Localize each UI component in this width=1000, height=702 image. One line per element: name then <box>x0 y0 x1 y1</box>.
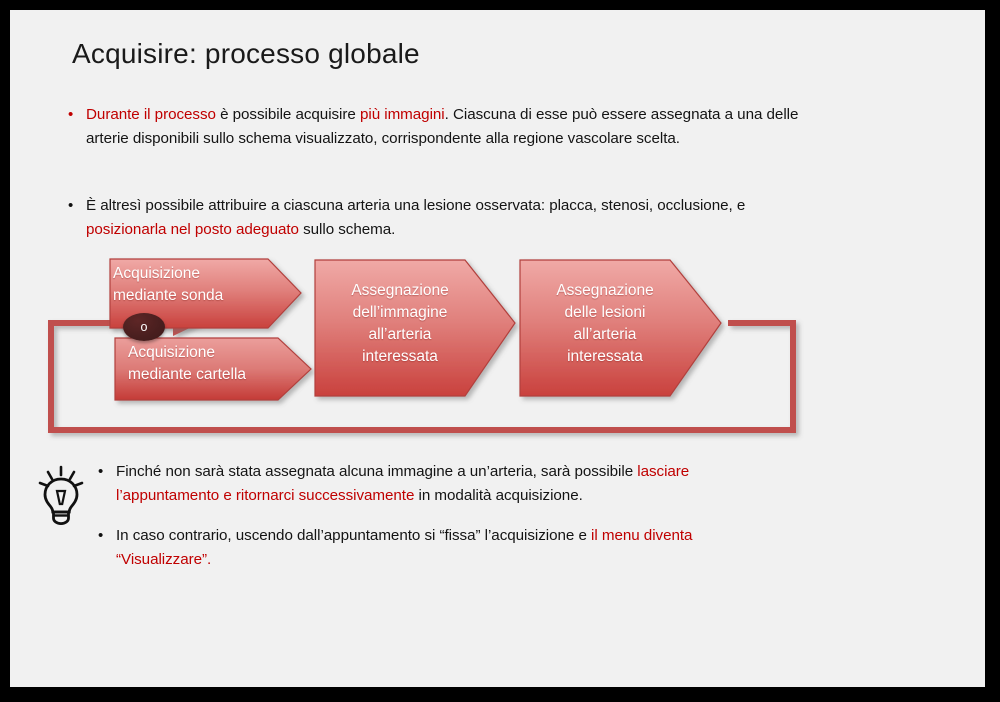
bullet-1-seg-1: è possibile acquisire <box>216 106 360 123</box>
chevron-label-acquisizione-sonda: Acquisizione mediante sonda <box>113 263 263 307</box>
bullet-item-2: • È altresì possibile attribuire a ciasc… <box>68 194 808 241</box>
bullet-1-seg-2: più immagini <box>360 106 445 123</box>
page-title: Acquisire: processo globale <box>72 38 872 70</box>
or-connector-badge: o <box>123 313 165 341</box>
bullet-marker-icon: • <box>98 460 116 483</box>
feedback-loop-arrow <box>51 310 793 430</box>
bullet-2-seg-2: sullo schema. <box>299 221 395 238</box>
chevron-line: mediante cartella <box>128 364 293 386</box>
chevron-line: Assegnazione <box>320 280 480 302</box>
chevron-line: Acquisizione <box>113 263 263 285</box>
chevron-line: dell’immagine <box>320 302 480 324</box>
bullet-marker-icon: • <box>98 524 116 547</box>
bullet-marker-icon: • <box>68 103 86 126</box>
chevron-line: delle lesioni <box>525 302 685 324</box>
bullet-text-2: È altresì possibile attribuire a ciascun… <box>86 194 808 241</box>
bullet-text-1: Durante il processo è possibile acquisir… <box>86 103 838 150</box>
chevron-line: Acquisizione <box>128 342 293 364</box>
bullet-text-4: In caso contrario, uscendo dall’appuntam… <box>116 524 778 571</box>
slide-canvas: Acquisire: processo globale • Durante il… <box>10 10 985 687</box>
chevron-acquisizione-sonda <box>110 259 301 328</box>
bullet-marker-icon: • <box>68 194 86 217</box>
chevron-assegnazione-immagine <box>315 260 515 396</box>
bullet-3-seg-0: Finché non sarà stata assegnata alcuna i… <box>116 463 637 480</box>
bullet-3-seg-2: in modalità acquisizione. <box>414 487 582 504</box>
bullet-1-seg-0: Durante il processo <box>86 106 216 123</box>
chevron-line: all’arteria <box>320 324 480 346</box>
chevron-label-acquisizione-cartella: Acquisizione mediante cartella <box>128 342 293 386</box>
bullet-2-seg-1: posizionarla nel posto adeguato <box>86 221 299 238</box>
chevron-line: Assegnazione <box>525 280 685 302</box>
chevron-acquisizione-cartella <box>115 338 311 400</box>
chevron-line: all’arteria <box>525 324 685 346</box>
chevron-line: interessata <box>320 346 480 368</box>
chevron-line: mediante sonda <box>113 285 263 307</box>
bullet-item-4: • In caso contrario, uscendo dall’appunt… <box>98 524 778 571</box>
bullet-4-seg-0: In caso contrario, uscendo dall’appuntam… <box>116 527 591 544</box>
bullet-item-1: • Durante il processo è possibile acquis… <box>68 103 838 150</box>
bullet-item-3: • Finché non sarà stata assegnata alcuna… <box>98 460 778 507</box>
chevron-assegnazione-lesioni <box>520 260 721 396</box>
bullet-2-seg-0: È altresì possibile attribuire a ciascun… <box>86 197 745 214</box>
bullet-text-3: Finché non sarà stata assegnata alcuna i… <box>116 460 778 507</box>
slide-frame: Acquisire: processo globale • Durante il… <box>0 0 1000 702</box>
chevron-label-assegnazione-lesioni: Assegnazione delle lesioni all’arteria i… <box>525 280 685 368</box>
chevron-label-assegnazione-immagine: Assegnazione dell’immagine all’arteria i… <box>320 280 480 368</box>
lightbulb-icon <box>38 465 84 527</box>
chevron-line: interessata <box>525 346 685 368</box>
